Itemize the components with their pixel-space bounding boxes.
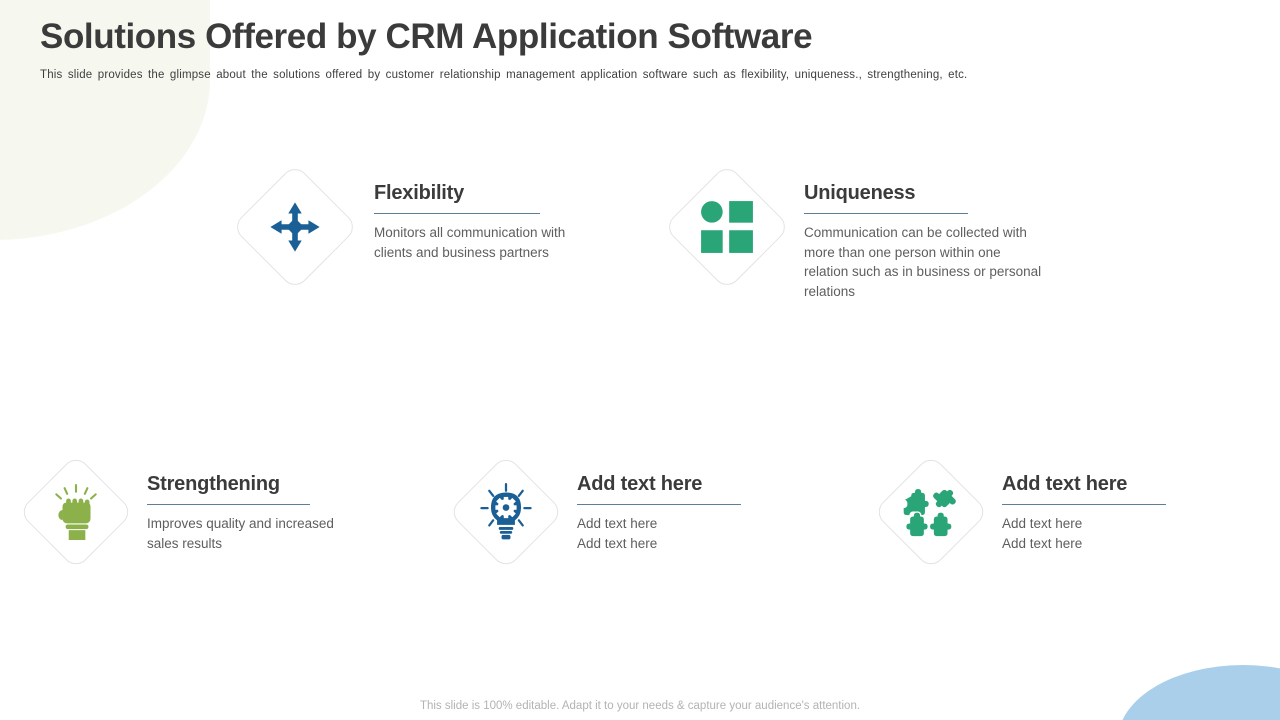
card-body-line: Add text here: [577, 534, 767, 554]
title-underline: [1002, 504, 1166, 505]
card-body-line: Add text here: [1002, 514, 1192, 534]
title-underline: [147, 504, 310, 505]
card-body: Add text here Add text here: [577, 514, 767, 553]
footer-note: This slide is 100% editable. Adapt it to…: [0, 700, 1280, 712]
card-add-text-here-1[interactable]: Add text here Add text here Add text her…: [465, 467, 767, 553]
diamond-frame-flexibility: [231, 163, 358, 290]
four-way-arrow-icon: [267, 199, 323, 255]
card-text-add-text-2: Add text here Add text here Add text her…: [1002, 467, 1192, 553]
card-title: Flexibility: [374, 182, 574, 205]
diamond-frame-add-text-2: [873, 454, 989, 570]
card-add-text-here-2[interactable]: Add text here Add text here Add text her…: [890, 467, 1192, 553]
title-underline: [804, 213, 968, 214]
page-title: Solutions Offered by CRM Application Sof…: [40, 18, 1240, 57]
card-body: Monitors all communication with clients …: [374, 223, 574, 262]
card-flexibility[interactable]: Flexibility Monitors all communication w…: [250, 176, 574, 272]
card-strengthening[interactable]: Strengthening Improves quality and incre…: [35, 467, 337, 553]
puzzle-pieces-icon: [903, 486, 959, 538]
lightbulb-gear-icon: [478, 483, 534, 541]
diamond-frame-uniqueness: [663, 163, 790, 290]
grid-blocks-icon: [700, 200, 754, 254]
title-underline: [374, 213, 540, 214]
card-body-line: Add text here: [577, 514, 767, 534]
card-body: Communication can be collected with more…: [804, 223, 1044, 301]
slide-header: Solutions Offered by CRM Application Sof…: [40, 18, 1240, 81]
card-text-uniqueness: Uniqueness Communication can be collecte…: [804, 176, 1044, 301]
card-text-strengthening: Strengthening Improves quality and incre…: [147, 467, 337, 553]
card-title: Strengthening: [147, 473, 337, 496]
card-title: Add text here: [1002, 473, 1192, 496]
card-uniqueness[interactable]: Uniqueness Communication can be collecte…: [682, 176, 1044, 301]
card-title: Uniqueness: [804, 182, 1044, 205]
card-body: Improves quality and increased sales res…: [147, 514, 337, 553]
card-title: Add text here: [577, 473, 767, 496]
title-underline: [577, 504, 741, 505]
card-text-add-text-1: Add text here Add text here Add text her…: [577, 467, 767, 553]
raised-fist-icon: [50, 484, 102, 540]
card-text-flexibility: Flexibility Monitors all communication w…: [374, 176, 574, 262]
diamond-frame-strengthening: [18, 454, 134, 570]
card-body: Add text here Add text here: [1002, 514, 1192, 553]
diamond-frame-add-text-1: [448, 454, 564, 570]
slide-canvas: Solutions Offered by CRM Application Sof…: [0, 0, 1280, 720]
card-body-line: Add text here: [1002, 534, 1192, 554]
page-subtitle: This slide provides the glimpse about th…: [40, 69, 1240, 81]
